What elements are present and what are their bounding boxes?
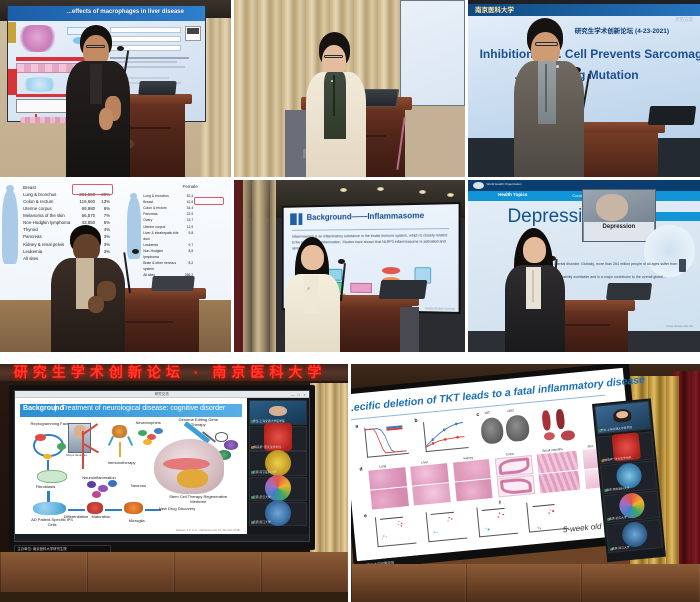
participant-name: 学生-上海交通大学医学院 <box>600 425 632 432</box>
slide-label-immunotherapy: Immunotherapy <box>108 460 136 465</box>
slide-citation-photo7: Raikwar, S.P. et al. J Alzheimers Dis 64… <box>176 529 240 532</box>
photo-top-left[interactable]: ...effects of macrophages in liver disea… <box>0 0 231 177</box>
stat-site: Lung & bronchus <box>23 191 75 198</box>
laptop <box>606 283 652 300</box>
panel-letter-c: c <box>476 412 479 418</box>
participant-name: 嘉宾-浙江大学 <box>253 520 271 524</box>
participant-tile[interactable]: 嘉宾-浙江大学 <box>605 520 663 554</box>
photo-top-right[interactable]: 南京医科大学 示范方案 研究生学术创新论坛 (4-23-2021) Inhibi… <box>468 0 700 177</box>
panel-letter-d: d <box>359 467 363 473</box>
participant-name: 嘉宾-浙江大学 <box>612 545 630 551</box>
highlight-box-male <box>72 184 114 195</box>
female-stat-table: Lung & bronchus52,4 Breast42,6 Colon & r… <box>143 193 193 278</box>
histo-label-colon: Colon <box>505 452 514 457</box>
speaker-person <box>505 228 565 352</box>
slide-label-stemcell: Stem Cell Therapy Regenerative Medicine <box>163 494 233 504</box>
screen-footer-label: 主办单位: 南京医科大学研究生院 <box>17 546 66 551</box>
slide-line1-photo3: Inhibition of ... Cell Prevents Sarcomag… <box>480 47 700 61</box>
stat-site: Uterine corpus <box>23 205 75 212</box>
participant-tile[interactable]: "精英杯" 研究生学术创... <box>249 426 307 451</box>
led-banner-text: 研究生学术创新论坛 · 南京医科大学 <box>14 364 326 382</box>
male-silhouette <box>2 190 18 265</box>
slide-title-photo1: ...effects of macrophages in liver disea… <box>67 9 184 15</box>
who-footer-url: https://www.who.int/ <box>667 324 694 328</box>
slide-corner-cn-photo3: 示范方案 <box>675 17 693 23</box>
speaker-person <box>306 32 366 177</box>
participant-name: 嘉宾-武汉大学 <box>609 516 627 522</box>
slide-citation-photo5: Nanjing Medical University <box>425 308 455 312</box>
histo-label-lung: Lung <box>379 464 386 469</box>
participant-name: "精英杯" 研究生学术创... <box>253 445 283 449</box>
photo-mid-left[interactable]: Breast Lung & bronchus281,55030% Colon &… <box>0 180 231 352</box>
slide-label-microglia: Microglia <box>129 518 145 523</box>
stat-site: Colon & rectum <box>23 198 75 205</box>
who-nav-health-topics: Health Topics <box>498 192 527 197</box>
slide-label-neurons: Neurons <box>131 483 146 488</box>
photo-bottom-right[interactable]: ...ecific deletion of TKT leads to a fat… <box>351 364 700 602</box>
speaker-person <box>285 237 340 352</box>
panel-letter-a: a <box>355 423 358 429</box>
slide-header-cn-photo3: 研究生学术创新论坛 (4-23-2021) <box>575 25 669 35</box>
participant-tile[interactable]: 学生-上海交通大学医学院 <box>594 401 652 435</box>
participant-tile[interactable]: 嘉宾-南京医科大学 <box>249 451 307 476</box>
projection-screen[interactable]: ...ecific deletion of TKT leads to a fat… <box>351 368 638 561</box>
maximize-icon[interactable]: □ <box>297 393 301 396</box>
stat-site: Melanoma of the skin <box>23 212 75 219</box>
slide-label-neuroinflammation: Neuroinflammation <box>82 475 116 480</box>
slide-label-newdrug: New Drug Discovery <box>159 506 201 511</box>
slide-title-right-photo7: Treatment of neurological disease: cogni… <box>61 405 225 412</box>
genotype-label-cko: cKO <box>507 408 514 413</box>
photo-mid-right[interactable]: World Health Organization Health Topics … <box>468 180 700 352</box>
window-title: 研究交流 <box>155 392 169 397</box>
who-image-caption: Depression <box>603 224 636 230</box>
slide-banner-cn-photo3: 南京医科大学 <box>475 4 514 14</box>
laptop <box>152 276 195 291</box>
slide-label-maturation: Maturation <box>92 514 111 519</box>
participant-sidebar[interactable]: 学生-上海交通大学医学院 "精英杯" 研究生学术创... 嘉宾-南京医科大学 <box>247 398 309 534</box>
minimize-icon[interactable]: — <box>291 393 295 396</box>
participant-tile[interactable]: 学生-上海交通大学医学院 <box>249 400 307 425</box>
photo-mid-center[interactable]: Background——Inflammasome Inflammasome is… <box>234 180 465 352</box>
participant-name: 嘉宾-南京医科大学 <box>253 470 276 474</box>
panel-letter-b: b <box>414 418 418 424</box>
female-header: Female <box>182 184 197 189</box>
laptop <box>378 280 427 299</box>
shared-slide-area[interactable]: Background | Treatment of neurological d… <box>15 398 247 534</box>
slide-label-differentiation: Differentiation <box>64 514 89 519</box>
slide-title-sep-photo7: | <box>54 405 56 412</box>
photo-collage: ...effects of macrophages in liver disea… <box>0 0 700 602</box>
who-body-line1: ...mental disorder. Globally, more than … <box>552 262 678 266</box>
speaker-person <box>51 225 125 352</box>
stage-front <box>351 564 700 602</box>
participant-name: 嘉宾-武汉大学 <box>253 495 271 499</box>
who-logo-label: World Health Organization <box>487 182 522 186</box>
photo-bottom-left[interactable]: 研究生学术创新论坛 · 南京医科大学 研究交流 — □ × Background <box>0 364 348 602</box>
participant-name: 嘉宾-南京医科大学 <box>606 486 630 492</box>
participant-name: 学生-上海交通大学医学院 <box>253 419 285 423</box>
photo-top-center[interactable] <box>234 0 465 177</box>
close-icon[interactable]: × <box>303 393 307 396</box>
slide-label-neurotrophins: Neurotrophins <box>136 420 161 425</box>
histo-label-liver: Liver <box>421 460 428 465</box>
speaker-person <box>65 25 134 177</box>
presentation-screen <box>400 0 465 106</box>
who-body-line2: ...of disability worldwide and is a majo… <box>552 275 666 279</box>
participant-tile[interactable]: 嘉宾-武汉大学 <box>249 477 307 502</box>
genotype-label-wt: WT <box>484 411 490 415</box>
slide-title-left-photo7: Background <box>23 405 64 412</box>
speaker-person <box>514 18 584 177</box>
slide-label-fibroblasts: Fibroblasts <box>36 484 56 489</box>
video-conference-window[interactable]: 研究交流 — □ × Background | Treatment of neu… <box>14 390 310 542</box>
participant-tile[interactable]: 嘉宾-浙江大学 <box>249 502 307 527</box>
stat-site: Breast <box>23 184 75 191</box>
slide-label-genome-editing: Genome Editing Gene Therapy <box>173 417 224 427</box>
laptop <box>648 106 697 125</box>
stage-curtain <box>310 383 348 554</box>
slide-title-photo5: Background——Inflammasome <box>307 211 424 222</box>
panel-letter-e: e <box>363 513 366 519</box>
highlight-box-female <box>194 197 224 204</box>
histo-label-skin: Skin <box>587 444 594 449</box>
